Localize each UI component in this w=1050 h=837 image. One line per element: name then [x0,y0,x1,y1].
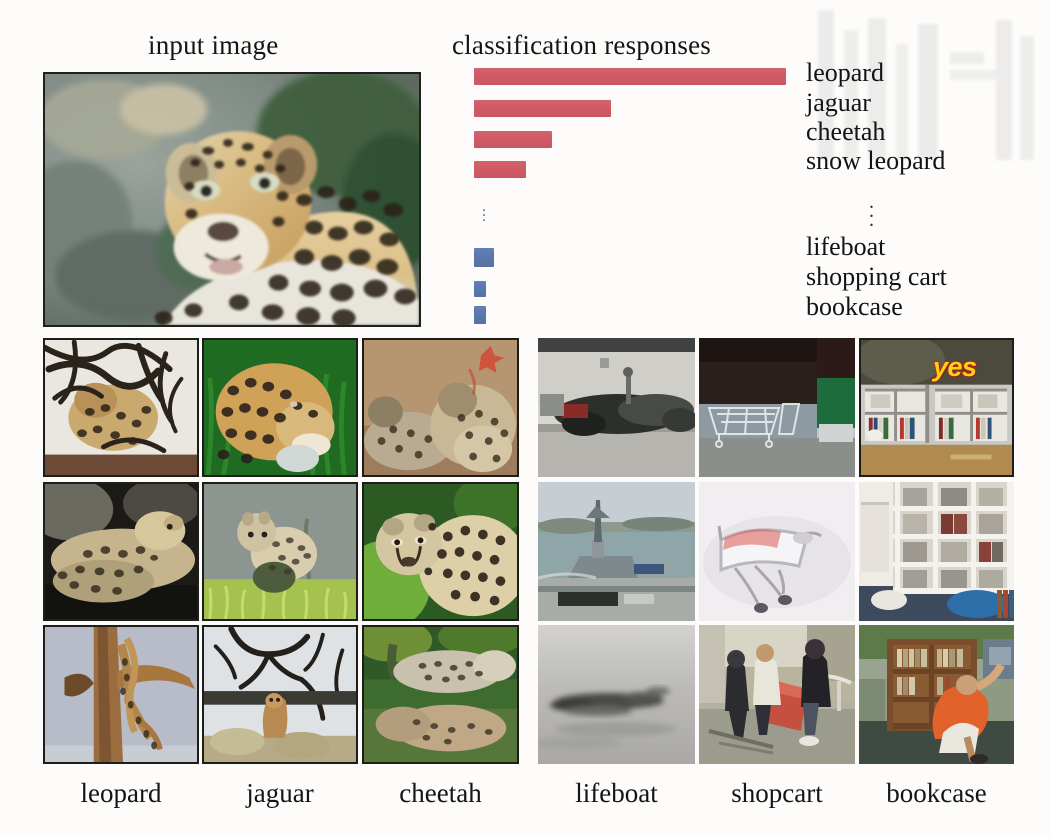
caption-bookcase: bookcase [859,778,1014,809]
class-label-jaguar: jaguar [806,88,871,118]
class-label-bookcase: bookcase [806,292,903,322]
input-image-photo [43,72,421,327]
thumb-leopard-r3 [43,625,199,764]
caption-leopard: leopard [43,778,199,809]
bar-ellipsis: ... [482,205,486,220]
figure-canvas: input image classification responses [0,0,1050,837]
bar-leopard [474,68,786,85]
thumb-jaguar-r2 [202,482,358,621]
input-image-title: input image [148,30,278,61]
thumb-cheetah-r1 [362,338,519,477]
bar-bookcase [474,306,486,324]
thumb-bookcase-r2 [859,482,1014,621]
caption-shopcart: shopcart [699,778,855,809]
bar-shopping-cart [474,281,486,297]
label-ellipsis: ... [869,198,874,225]
caption-lifeboat: lifeboat [538,778,695,809]
thumb-bookcase-r1: yes [859,338,1014,477]
leopard-photo-art [45,74,419,325]
thumb-bookcase-r3 [859,625,1014,764]
class-label-lifeboat: lifeboat [806,232,885,262]
class-label-shopping-cart: shopping cart [806,262,947,292]
caption-cheetah: cheetah [362,778,519,809]
bar-snow-leopard [474,161,526,178]
bar-lifeboat [474,248,494,267]
thumb-shopcart-r3 [699,625,855,764]
thumb-lifeboat-r2 [538,482,695,621]
yes-overlay-text: yes [933,352,977,383]
thumb-lifeboat-r3 [538,625,695,764]
classification-responses-title: classification responses [452,30,711,61]
class-label-cheetah: cheetah [806,117,885,147]
caption-jaguar: jaguar [202,778,358,809]
thumb-jaguar-r3 [202,625,358,764]
class-label-snow-leopard: snow leopard [806,146,945,176]
bar-cheetah [474,131,552,148]
thumb-leopard-r1 [43,338,199,477]
thumb-shopcart-r1 [699,338,855,477]
thumb-lifeboat-r1 [538,338,695,477]
bar-jaguar [474,100,611,117]
thumb-leopard-r2 [43,482,199,621]
thumb-cheetah-r3 [362,625,519,764]
class-label-leopard: leopard [806,58,884,88]
thumb-shopcart-r2 [699,482,855,621]
thumb-jaguar-r1 [202,338,358,477]
thumb-cheetah-r2 [362,482,519,621]
classification-bar-chart: ... [474,66,804,316]
